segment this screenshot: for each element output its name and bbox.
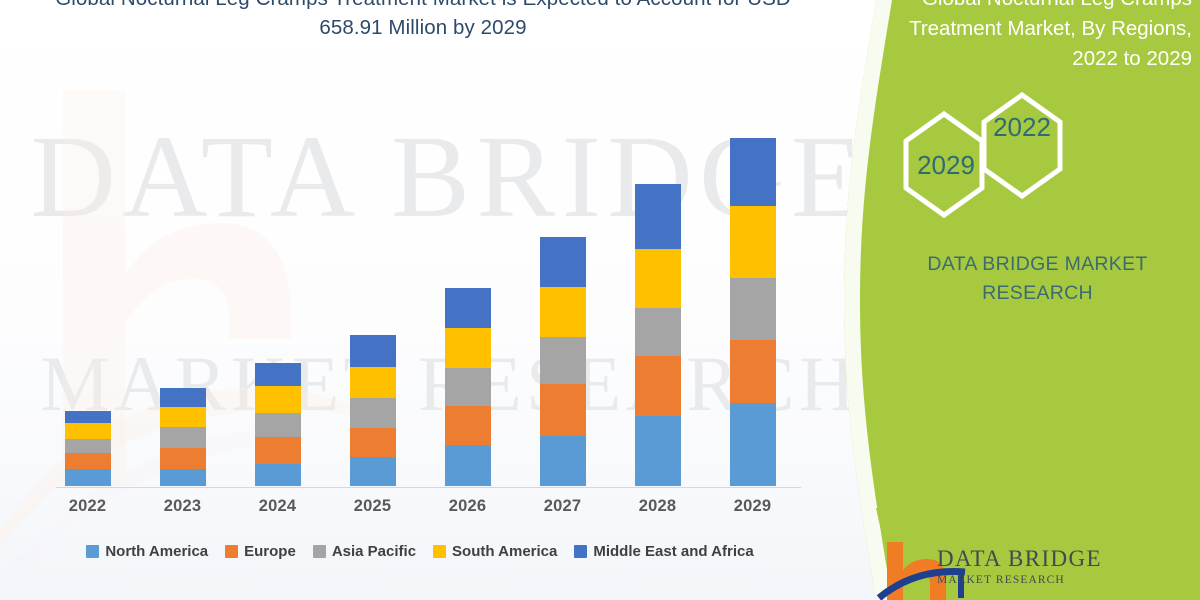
bar-segment bbox=[635, 308, 681, 356]
legend-label: Middle East and Africa bbox=[593, 543, 753, 560]
bar-segment bbox=[65, 469, 111, 486]
legend-item[interactable]: Asia Pacific bbox=[313, 543, 416, 560]
bar-segment bbox=[445, 445, 491, 486]
bar-segment bbox=[160, 469, 206, 486]
infographic-canvas: DATA BRIDGE MARKET RESEARCH Global Noctu… bbox=[0, 0, 1200, 600]
brand-panel-content: Global Nocturnal Leg Cramps Treatment Ma… bbox=[880, 0, 1200, 600]
bar-segment bbox=[255, 386, 301, 413]
bar-segment bbox=[730, 403, 776, 486]
company-logo: DATA BRIDGE MARKET RESEARCH bbox=[875, 540, 1200, 600]
bar-column bbox=[139, 120, 227, 486]
bar-segment bbox=[635, 249, 681, 308]
stacked-bar bbox=[160, 388, 206, 486]
x-axis-tick-label: 2022 bbox=[44, 497, 132, 516]
plot-area bbox=[40, 120, 800, 486]
brand-name: DATA BRIDGE MARKET RESEARCH bbox=[875, 250, 1200, 308]
hexagon-2022-shape bbox=[984, 95, 1060, 196]
bar-segment bbox=[255, 413, 301, 437]
stacked-bar-group bbox=[40, 120, 800, 486]
bar-segment bbox=[730, 340, 776, 403]
legend-label: Europe bbox=[244, 543, 296, 560]
bar-segment bbox=[350, 398, 396, 428]
hexagon-2029-shape bbox=[906, 114, 982, 215]
bar-column bbox=[424, 120, 512, 486]
legend-item[interactable]: North America bbox=[86, 543, 208, 560]
bar-segment bbox=[730, 206, 776, 278]
bar-segment bbox=[540, 237, 586, 287]
bar-segment bbox=[255, 437, 301, 464]
company-logo-subtitle: MARKET RESEARCH bbox=[937, 574, 1065, 586]
bar-segment bbox=[350, 457, 396, 486]
x-axis-tick-label: 2027 bbox=[519, 497, 607, 516]
bar-segment bbox=[255, 464, 301, 486]
stacked-bar bbox=[65, 411, 111, 486]
bar-segment bbox=[635, 416, 681, 486]
hexagon-badges: 2029 2022 bbox=[880, 88, 1200, 228]
x-axis-tick-label: 2023 bbox=[139, 497, 227, 516]
bar-segment bbox=[445, 288, 491, 328]
bar-segment bbox=[540, 287, 586, 337]
bar-segment bbox=[730, 278, 776, 340]
legend-swatch-icon bbox=[86, 545, 99, 558]
legend-item[interactable]: Middle East and Africa bbox=[574, 543, 753, 560]
stacked-bar bbox=[540, 237, 586, 486]
legend-swatch-icon bbox=[313, 545, 326, 558]
legend-label: Asia Pacific bbox=[332, 543, 416, 560]
bar-segment bbox=[160, 388, 206, 407]
bar-segment bbox=[540, 384, 586, 436]
bar-column bbox=[44, 120, 132, 486]
chart-legend: North AmericaEuropeAsia PacificSouth Ame… bbox=[40, 538, 800, 564]
x-axis-tick-label: 2028 bbox=[614, 497, 702, 516]
company-logo-mark-icon bbox=[875, 540, 1200, 600]
hexagon-2022-label: 2022 bbox=[993, 112, 1051, 142]
legend-item[interactable]: Europe bbox=[225, 543, 296, 560]
bar-segment bbox=[65, 439, 111, 453]
x-axis-labels: 20222023202420252026202720282029 bbox=[40, 492, 800, 520]
bar-column bbox=[234, 120, 322, 486]
panel-title: Global Nocturnal Leg Cramps Treatment Ma… bbox=[862, 0, 1192, 74]
page-title: Global Nocturnal Leg Cramps Treatment Ma… bbox=[52, 0, 794, 42]
bar-segment bbox=[65, 423, 111, 439]
legend-item[interactable]: South America bbox=[433, 543, 557, 560]
bar-segment bbox=[65, 453, 111, 469]
bar-segment bbox=[540, 436, 586, 486]
stacked-bar bbox=[635, 184, 681, 486]
x-axis-tick-label: 2029 bbox=[709, 497, 797, 516]
bar-column bbox=[614, 120, 702, 486]
legend-label: South America bbox=[452, 543, 557, 560]
x-axis-tick-label: 2026 bbox=[424, 497, 512, 516]
bar-column bbox=[519, 120, 607, 486]
bar-segment bbox=[540, 337, 586, 384]
x-axis-line bbox=[56, 487, 801, 489]
legend-swatch-icon bbox=[225, 545, 238, 558]
stacked-bar bbox=[445, 288, 491, 486]
bar-segment bbox=[445, 368, 491, 406]
bar-column bbox=[709, 120, 797, 486]
x-axis-tick-label: 2024 bbox=[234, 497, 322, 516]
bar-segment bbox=[445, 328, 491, 368]
bar-segment bbox=[635, 184, 681, 249]
legend-swatch-icon bbox=[574, 545, 587, 558]
bar-segment bbox=[160, 407, 206, 427]
bar-segment bbox=[730, 138, 776, 206]
bar-segment bbox=[65, 411, 111, 423]
stacked-bar bbox=[350, 335, 396, 486]
brand-line-1: DATA BRIDGE MARKET bbox=[927, 253, 1147, 275]
legend-label: North America bbox=[105, 543, 208, 560]
hexagon-2029-label: 2029 bbox=[917, 150, 975, 180]
brand-line-2: RESEARCH bbox=[982, 282, 1093, 304]
bar-segment bbox=[350, 367, 396, 398]
bar-segment bbox=[160, 448, 206, 469]
bar-segment bbox=[445, 406, 491, 445]
company-logo-title: DATA BRIDGE bbox=[937, 546, 1102, 572]
bar-segment bbox=[160, 427, 206, 448]
bar-segment bbox=[255, 363, 301, 386]
bar-segment bbox=[350, 428, 396, 457]
chart-panel: DATA BRIDGE MARKET RESEARCH Global Noctu… bbox=[0, 0, 900, 600]
bar-segment bbox=[635, 356, 681, 416]
x-axis-tick-label: 2025 bbox=[329, 497, 417, 516]
legend-swatch-icon bbox=[433, 545, 446, 558]
stacked-bar bbox=[255, 363, 301, 486]
stacked-bar bbox=[730, 138, 776, 486]
bar-column bbox=[329, 120, 417, 486]
bar-segment bbox=[350, 335, 396, 367]
